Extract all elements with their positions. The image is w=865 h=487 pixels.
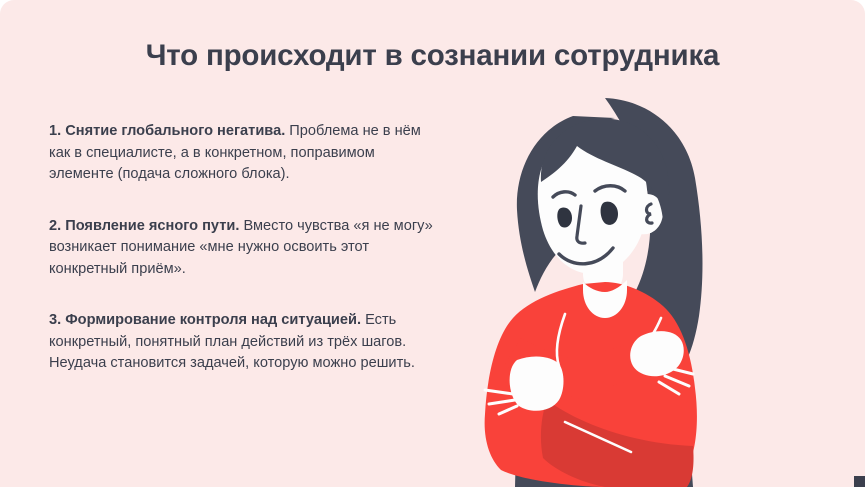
corner-notch xyxy=(854,476,865,487)
woman-illustration xyxy=(455,78,795,487)
list-item: 1. Снятие глобального негатива. Проблема… xyxy=(49,121,439,186)
points-list: 1. Снятие глобального негатива. Проблема… xyxy=(49,121,439,375)
point-lead: 1. Снятие глобального негатива. xyxy=(49,123,285,139)
hand-left-shape xyxy=(510,357,564,411)
page-title: Что происходит в сознании сотрудника xyxy=(0,39,865,73)
list-item: 2. Появление ясного пути. Вместо чувства… xyxy=(49,216,439,281)
point-lead: 3. Формирование контроля над ситуацией. xyxy=(49,312,361,328)
point-lead: 2. Появление ясного пути. xyxy=(49,218,239,234)
slide-canvas: Что происходит в сознании сотрудника 1. … xyxy=(0,0,865,487)
list-item: 3. Формирование контроля над ситуацией. … xyxy=(49,310,439,375)
